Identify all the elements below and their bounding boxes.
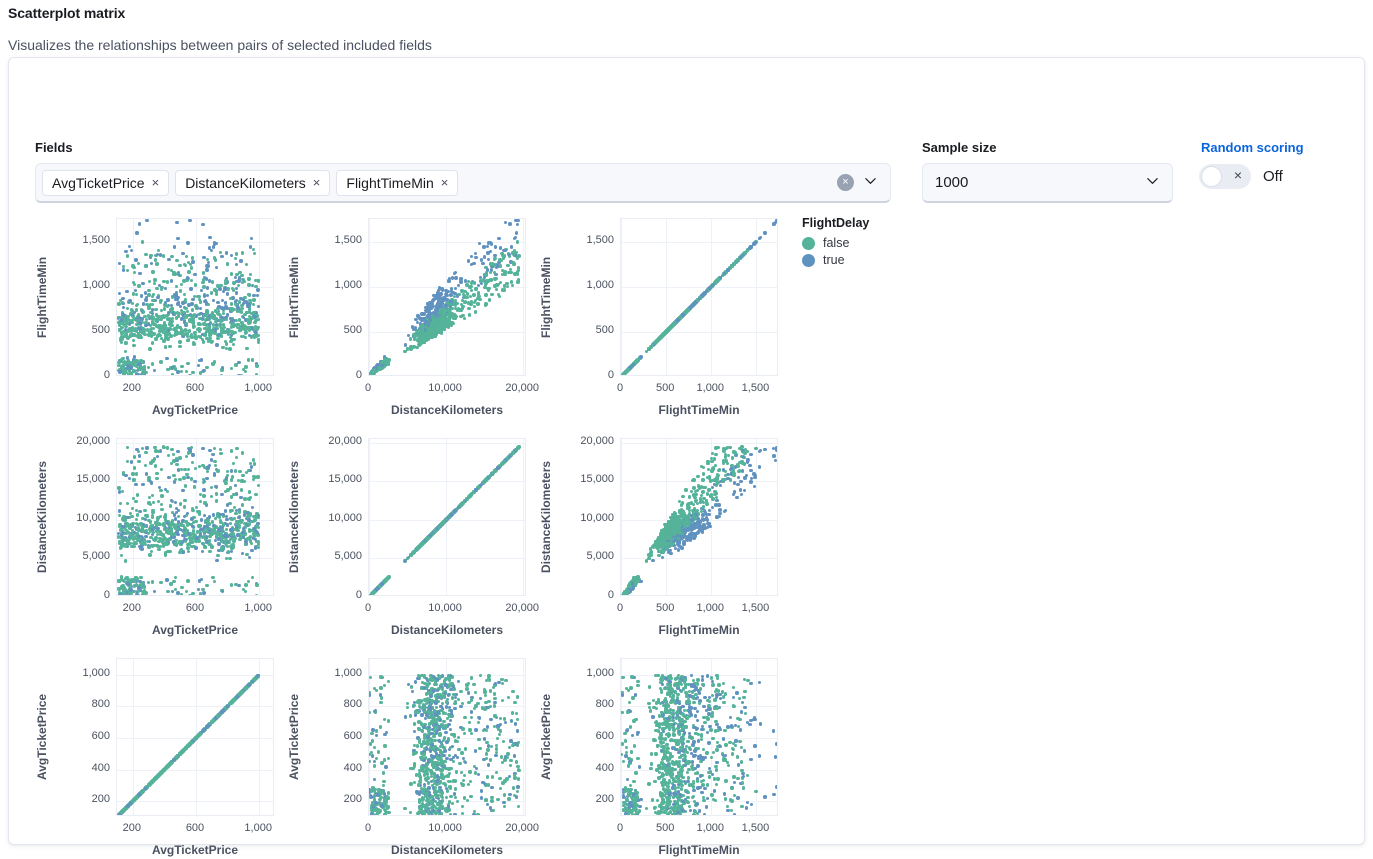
plot-area[interactable] (620, 218, 778, 376)
data-point (186, 543, 189, 546)
data-point (454, 276, 457, 279)
data-point (248, 490, 251, 493)
data-point (126, 307, 129, 310)
y-axis-tick-label: 5,000 (54, 550, 110, 562)
data-point (230, 302, 233, 305)
visualization-panel: Fields Sample size Random scoring AvgTic… (8, 57, 1365, 845)
data-point (486, 251, 489, 254)
data-point (484, 293, 487, 296)
data-point (205, 477, 208, 480)
data-point (193, 485, 196, 488)
y-axis-tick-label: 10,000 (54, 512, 110, 524)
data-point (141, 581, 144, 584)
data-point (449, 293, 452, 296)
data-point (414, 318, 417, 321)
data-point (208, 464, 211, 467)
data-point (211, 311, 214, 314)
data-point (183, 320, 186, 323)
x-axis-tick-label: 200 (102, 602, 162, 614)
data-point (117, 579, 120, 582)
data-point (147, 289, 150, 292)
data-point (184, 520, 187, 523)
data-point (208, 550, 211, 553)
random-scoring-toggle[interactable]: × (1199, 164, 1251, 189)
data-point (160, 508, 163, 511)
data-point (181, 252, 184, 255)
data-point (157, 315, 160, 318)
data-point (132, 545, 135, 548)
data-point (202, 369, 205, 372)
data-point (149, 254, 152, 257)
data-point (253, 252, 256, 255)
data-point (241, 474, 244, 477)
data-point (207, 518, 210, 521)
data-point (183, 293, 186, 296)
chevron-down-icon[interactable] (863, 173, 878, 193)
data-point (470, 281, 473, 284)
data-point (440, 302, 443, 305)
data-point (516, 273, 519, 276)
data-point (248, 299, 251, 302)
data-point (156, 455, 159, 458)
data-point (191, 371, 194, 374)
data-point (493, 271, 496, 274)
data-point (166, 368, 169, 371)
data-point (181, 489, 184, 492)
data-point (252, 248, 255, 251)
data-point (244, 583, 247, 586)
data-point (159, 301, 162, 304)
data-point (237, 584, 240, 587)
data-point (175, 507, 178, 510)
data-point (226, 470, 229, 473)
data-point (152, 501, 155, 504)
data-point (420, 337, 423, 340)
data-point (212, 453, 215, 456)
data-point (198, 465, 201, 468)
data-point (490, 242, 493, 245)
data-point (432, 298, 435, 301)
data-point (368, 595, 371, 596)
data-point (152, 332, 155, 335)
data-point (202, 488, 205, 491)
data-point (230, 469, 233, 472)
data-point (136, 320, 139, 323)
data-point (174, 478, 177, 481)
gridline-horizontal (369, 481, 525, 482)
data-point (368, 595, 371, 596)
x-axis-title: AvgTicketPrice (76, 403, 314, 417)
data-point (511, 261, 514, 264)
data-point (186, 512, 189, 515)
data-point (256, 522, 259, 525)
data-point (499, 281, 502, 284)
data-point (743, 251, 746, 254)
data-point (157, 249, 160, 252)
data-point (493, 284, 496, 287)
x-axis-tick-label: 600 (165, 602, 225, 614)
y-axis-tick-label: 0 (306, 369, 362, 381)
data-point (170, 462, 173, 465)
data-point (227, 550, 230, 553)
clear-all-icon[interactable]: × (837, 174, 854, 191)
data-point (141, 282, 144, 285)
page-subtitle: Visualizes the relationships between pai… (8, 37, 432, 53)
legend-item-label: false (823, 236, 849, 250)
gridline-horizontal (117, 443, 273, 444)
data-point (178, 375, 181, 376)
data-point (409, 338, 412, 341)
y-axis-tick-label: 0 (54, 589, 110, 601)
data-point (247, 304, 250, 307)
data-point (430, 329, 433, 332)
data-point (214, 328, 217, 331)
plot-area[interactable] (368, 218, 526, 376)
data-point (171, 373, 174, 376)
data-point (157, 540, 160, 543)
data-point (222, 312, 225, 315)
data-point (167, 268, 170, 271)
data-point (250, 237, 253, 240)
data-point (234, 257, 237, 260)
data-point (203, 501, 206, 504)
y-axis-tick-label: 0 (558, 369, 614, 381)
data-point (180, 365, 183, 368)
data-point (502, 256, 505, 259)
sample-size-label: Sample size (922, 140, 996, 155)
y-axis-tick-label: 1,500 (558, 234, 614, 246)
data-point (213, 460, 216, 463)
data-point (135, 231, 138, 234)
data-point (208, 325, 211, 328)
data-point (122, 265, 125, 268)
data-point (174, 542, 177, 545)
data-point (194, 283, 197, 286)
data-point (117, 302, 120, 305)
data-point (187, 468, 190, 471)
data-point (426, 328, 429, 331)
data-point (152, 531, 155, 534)
data-point (244, 590, 247, 593)
data-point (470, 255, 473, 258)
data-point (201, 550, 204, 553)
data-point (158, 545, 161, 548)
data-point (191, 453, 194, 456)
data-point (456, 308, 459, 311)
data-point (243, 513, 246, 516)
data-point (226, 313, 229, 316)
data-point (244, 336, 247, 339)
data-point (248, 513, 251, 516)
data-point (213, 472, 216, 475)
data-point (145, 472, 148, 475)
data-point (186, 241, 189, 244)
plot-area[interactable] (368, 438, 526, 596)
data-point (185, 255, 188, 258)
legend-item-true[interactable]: true (802, 253, 869, 267)
data-point (130, 372, 133, 375)
random-scoring-label[interactable]: Random scoring (1201, 140, 1304, 155)
data-point (219, 452, 222, 455)
data-point (118, 370, 121, 373)
data-point (199, 312, 202, 315)
data-point (186, 529, 189, 532)
data-point (150, 524, 153, 527)
data-point (484, 302, 487, 305)
close-icon[interactable]: × (313, 176, 321, 189)
data-point (252, 458, 255, 461)
data-point (433, 334, 436, 337)
scatterplot-matrix-page: Scatterplot matrix Visualizes the relati… (0, 0, 1373, 859)
data-point (191, 525, 194, 528)
data-point (191, 461, 194, 464)
data-point (493, 258, 496, 261)
data-point (146, 328, 149, 331)
data-point (135, 293, 138, 296)
data-point (225, 342, 228, 345)
y-axis-title: FlightTimeMin (287, 218, 301, 376)
data-point (153, 369, 156, 372)
data-point (157, 522, 160, 525)
data-point (139, 576, 142, 579)
fields-combobox[interactable]: AvgTicketPrice × DistanceKilometers × Fl… (35, 163, 891, 203)
field-pill-avgticketprice[interactable]: AvgTicketPrice × (42, 170, 169, 196)
data-point (474, 252, 477, 255)
data-point (480, 258, 483, 261)
data-point (149, 461, 152, 464)
data-point (213, 360, 216, 363)
data-point (169, 582, 172, 585)
data-point (478, 298, 481, 301)
data-point (187, 270, 190, 273)
gridline-horizontal (369, 242, 525, 243)
data-point (461, 314, 464, 317)
data-point (159, 515, 162, 518)
data-point (175, 285, 178, 288)
data-point (238, 318, 241, 321)
data-point (176, 591, 179, 594)
data-point (485, 272, 488, 275)
data-point (160, 494, 163, 497)
data-point (217, 542, 220, 545)
data-point (224, 301, 227, 304)
data-point (197, 364, 200, 367)
data-point (193, 332, 196, 335)
data-point (208, 449, 211, 452)
data-point (241, 281, 244, 284)
data-point (151, 303, 154, 306)
data-point (170, 448, 173, 451)
data-point (200, 289, 203, 292)
data-point (202, 481, 205, 484)
data-point (216, 469, 219, 472)
data-point (445, 291, 448, 294)
data-point (459, 280, 462, 283)
data-point (368, 595, 371, 596)
x-axis-tick-label: 10,000 (415, 382, 475, 394)
data-point (229, 528, 232, 531)
data-point (166, 542, 169, 545)
plot-area[interactable] (116, 218, 274, 376)
data-point (230, 532, 233, 535)
data-point (137, 586, 140, 589)
data-point (497, 237, 500, 240)
data-point (128, 477, 131, 480)
data-point (234, 363, 237, 366)
data-point (167, 258, 170, 261)
data-point (758, 237, 761, 240)
data-point (164, 553, 167, 556)
legend-title: FlightDelay (802, 216, 869, 230)
data-point (473, 281, 476, 284)
data-point (220, 595, 223, 596)
data-point (229, 297, 232, 300)
data-point (159, 318, 162, 321)
data-point (198, 359, 201, 362)
data-point (212, 513, 215, 516)
data-point (660, 334, 663, 337)
data-point (191, 308, 194, 311)
legend-item-false[interactable]: false (802, 236, 869, 250)
data-point (252, 475, 255, 478)
data-point (216, 284, 219, 287)
data-point (142, 302, 145, 305)
data-point (763, 231, 766, 234)
data-point (225, 557, 228, 560)
data-point (138, 334, 141, 337)
y-axis-tick-label: 1,000 (306, 279, 362, 291)
field-pill-flighttimemin[interactable]: FlightTimeMin × (336, 170, 458, 196)
data-point (174, 358, 177, 361)
data-point (380, 364, 383, 367)
data-point (182, 279, 185, 282)
data-point (147, 476, 150, 479)
data-point (239, 259, 242, 262)
chevron-down-icon[interactable] (1145, 173, 1160, 192)
data-point (177, 468, 180, 471)
data-point (187, 303, 190, 306)
y-axis-tick-label: 0 (54, 369, 110, 381)
sample-size-select[interactable]: 1000 (922, 163, 1173, 203)
data-point (474, 310, 477, 313)
data-point (230, 309, 233, 312)
data-point (230, 518, 233, 521)
data-point (240, 519, 243, 522)
data-point (142, 541, 145, 544)
data-point (133, 466, 136, 469)
data-point (226, 503, 229, 506)
data-point (470, 289, 473, 292)
data-point (191, 298, 194, 301)
data-point (119, 546, 122, 549)
data-point (151, 545, 154, 548)
data-point (730, 264, 733, 267)
data-point (226, 292, 229, 295)
data-point (247, 277, 250, 280)
data-point (131, 536, 134, 539)
field-pill-distancekilometers[interactable]: DistanceKilometers × (175, 170, 330, 196)
data-point (183, 505, 186, 508)
data-point (248, 556, 251, 559)
data-point (144, 464, 147, 467)
data-point (202, 278, 205, 281)
data-point (483, 255, 486, 258)
data-point (247, 358, 250, 361)
data-point (147, 307, 150, 310)
data-point (164, 345, 167, 348)
data-point (142, 327, 145, 330)
y-axis-tick-label: 500 (54, 324, 110, 336)
close-icon[interactable]: × (441, 176, 449, 189)
plot-area[interactable] (116, 438, 274, 596)
data-point (254, 493, 257, 496)
data-point (124, 577, 127, 580)
data-point (141, 483, 144, 486)
data-point (197, 540, 200, 543)
data-point (166, 298, 169, 301)
data-point (167, 454, 170, 457)
data-point (210, 545, 213, 548)
data-point (178, 264, 181, 267)
data-point (222, 290, 225, 293)
data-point (145, 296, 148, 299)
data-point (185, 370, 188, 373)
data-point (124, 559, 127, 562)
data-point (130, 460, 133, 463)
data-point (144, 451, 147, 454)
data-point (148, 280, 151, 283)
random-scoring-control[interactable]: × Off (1199, 164, 1283, 189)
data-point (139, 322, 142, 325)
data-point (210, 495, 213, 498)
data-point (134, 483, 137, 486)
data-point (147, 519, 150, 522)
data-point (230, 367, 233, 370)
data-point (169, 504, 172, 507)
data-point (205, 268, 208, 271)
data-point (162, 522, 165, 525)
data-point (135, 308, 138, 311)
data-point (240, 310, 243, 313)
data-point (179, 305, 182, 308)
gridline-horizontal (621, 287, 777, 288)
data-point (193, 273, 196, 276)
data-point (226, 262, 229, 265)
data-point (140, 547, 143, 550)
data-point (198, 317, 201, 320)
data-point (166, 280, 169, 283)
data-point (235, 456, 238, 459)
close-icon[interactable]: × (152, 176, 160, 189)
data-point (225, 318, 228, 321)
data-point (241, 451, 244, 454)
data-point (160, 503, 163, 506)
data-point (228, 557, 231, 560)
data-point (202, 591, 205, 594)
data-point (144, 535, 147, 538)
data-point (208, 246, 211, 249)
data-point (448, 314, 451, 317)
data-point (433, 322, 436, 325)
y-axis-tick-label: 1,000 (558, 279, 614, 291)
data-point (205, 584, 208, 587)
data-point (179, 502, 182, 505)
data-point (454, 287, 457, 290)
data-point (387, 358, 390, 361)
data-point (137, 367, 140, 370)
data-point (129, 366, 132, 369)
gridline-horizontal (369, 332, 525, 333)
